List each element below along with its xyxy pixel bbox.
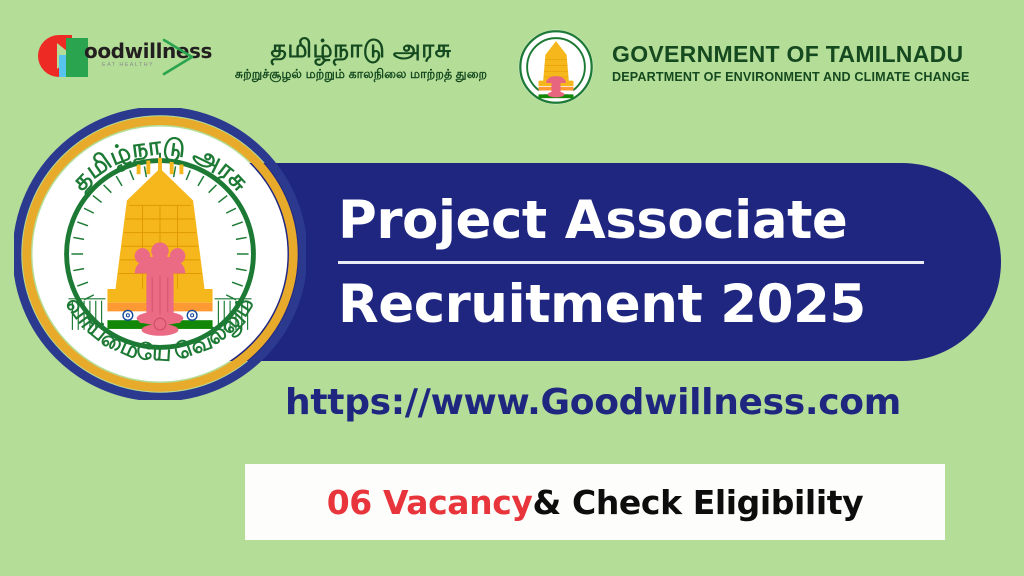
- logo-tagline: EAT HEALTHY: [102, 62, 154, 68]
- english-title-sub: DEPARTMENT OF ENVIRONMENT AND CLIMATE CH…: [612, 70, 970, 84]
- title-banner: Project Associate Recruitment 2025: [338, 163, 928, 361]
- english-government-title: GOVERNMENT OF TAMILNADU DEPARTMENT OF EN…: [612, 42, 970, 84]
- recruitment-poster: oodwillness EAT HEALTHY தமிழ்நாடு அரசு ச…: [0, 0, 1024, 576]
- banner-divider: [338, 261, 924, 264]
- eligibility-label: & Check Eligibility: [533, 483, 864, 522]
- tamil-title-sub: சுற்றுச்சூழல் மற்றும் காலநிலை மாற்றத் து…: [202, 67, 520, 83]
- vacancy-count: 06 Vacancy: [327, 483, 533, 522]
- poster-header: oodwillness EAT HEALTHY தமிழ்நாடு அரசு ச…: [0, 0, 1024, 110]
- goodwillness-logo: oodwillness EAT HEALTHY: [38, 31, 198, 83]
- logo-triangle-icon: [160, 36, 198, 78]
- tamil-title-main: தமிழ்நாடு அரசு: [202, 36, 520, 64]
- tamilnadu-state-emblem-icon: [518, 29, 594, 105]
- vacancy-summary-bar: 06 Vacancy & Check Eligibility: [245, 464, 945, 540]
- tamil-government-title: தமிழ்நாடு அரசு சுற்றுச்சூழல் மற்றும் கால…: [202, 36, 520, 83]
- banner-title-line-1: Project Associate: [338, 194, 847, 247]
- banner-title-line-2: Recruitment 2025: [338, 278, 866, 331]
- english-title-main: GOVERNMENT OF TAMILNADU: [612, 42, 970, 66]
- tamilnadu-state-emblem-large: தமிழ்நாடு அரசு வாய்மையே வெல்லும்: [14, 108, 306, 400]
